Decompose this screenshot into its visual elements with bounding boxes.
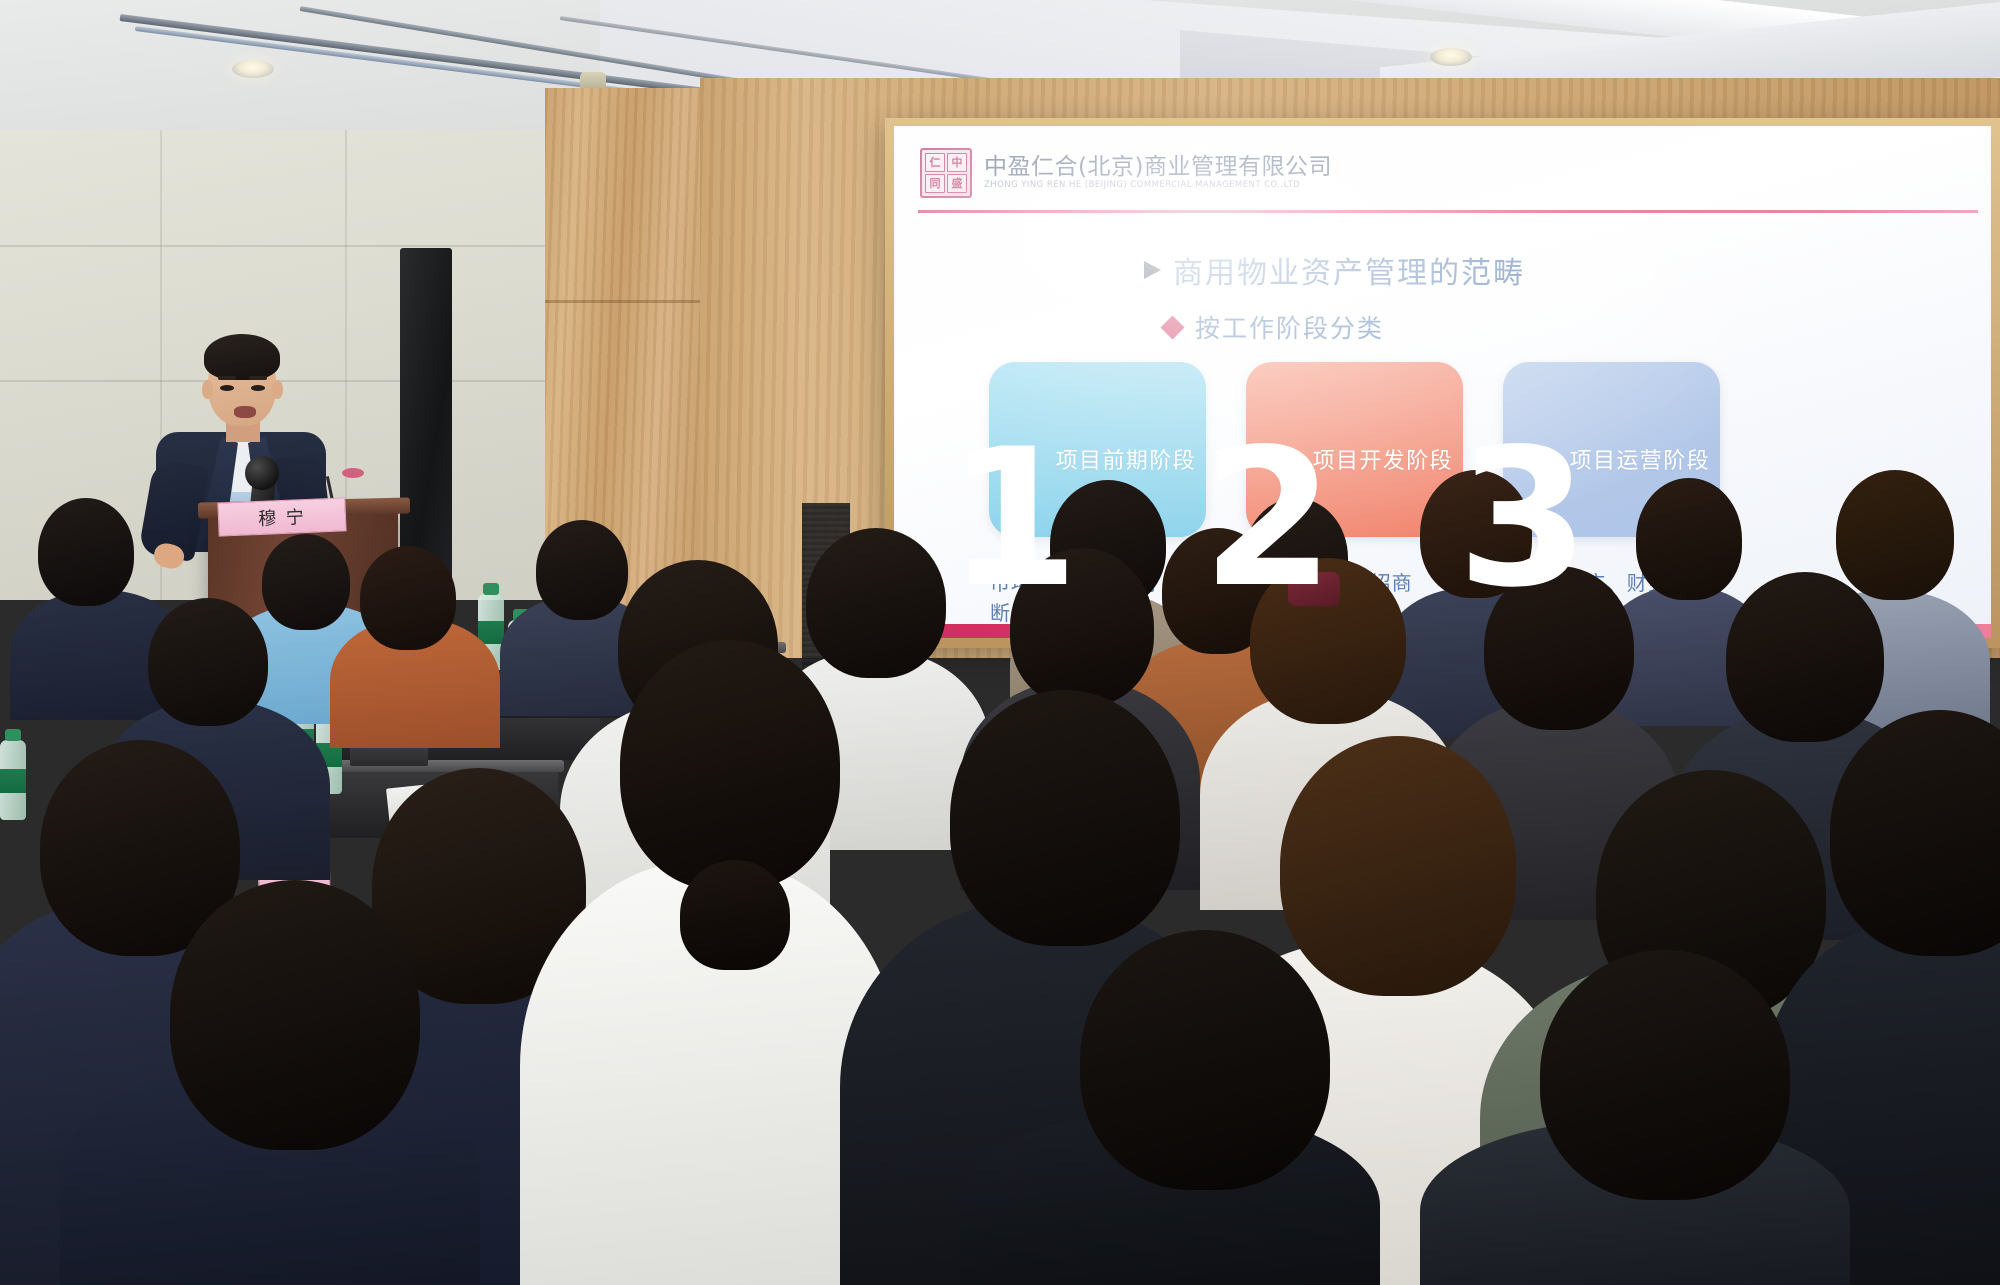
stage-label-2: 项目开发阶段 xyxy=(1313,443,1453,475)
audience-head xyxy=(1636,478,1742,600)
audience-head xyxy=(536,520,628,620)
header-divider xyxy=(918,210,1978,213)
audience-head xyxy=(1836,470,1954,600)
ponytail xyxy=(680,860,790,970)
seal-char: 中 xyxy=(947,153,967,172)
diamond-bullet-icon xyxy=(1160,315,1184,339)
slide-subtitle-row: 按工作阶段分类 xyxy=(1164,309,1384,345)
company-name-en: ZHONG YING REN HE (BEIJING) COMMERCIAL M… xyxy=(984,181,1332,190)
audience-head xyxy=(38,498,134,606)
audience-head xyxy=(1280,736,1516,996)
arrow-bullet-icon xyxy=(1144,261,1161,279)
stage-label-3: 项目运营阶段 xyxy=(1570,443,1710,475)
audience-head xyxy=(360,546,456,650)
seal-char: 仁 xyxy=(925,153,945,172)
slide-title: 商用物业资产管理的范畴 xyxy=(1173,248,1525,292)
lectern-mic-icon xyxy=(342,468,364,478)
audience-head xyxy=(620,640,840,890)
water-bottle xyxy=(0,740,26,820)
slide-header: 仁 中 同 盛 中盈仁合(北京)商业管理有限公司 ZHONG YING REN … xyxy=(920,148,1332,198)
audience-head xyxy=(170,880,420,1150)
audience-head xyxy=(1080,930,1330,1190)
conference-scene: 仁 中 同 盛 中盈仁合(北京)商业管理有限公司 ZHONG YING REN … xyxy=(0,0,2000,1285)
lectern-nameplate: 穆 宁 xyxy=(217,497,346,536)
audience-head xyxy=(1540,950,1790,1200)
audience-head xyxy=(806,528,946,678)
audience-head xyxy=(262,534,350,630)
seal-char: 盛 xyxy=(947,174,967,193)
audience-head xyxy=(950,690,1180,946)
company-name-cn: 中盈仁合(北京)商业管理有限公司 xyxy=(984,155,1332,180)
wood-wall-seam xyxy=(545,300,717,303)
seal-char: 同 xyxy=(925,174,945,193)
audience-head xyxy=(1726,572,1884,742)
downlight-icon xyxy=(1430,48,1472,66)
company-seal-logo-icon: 仁 中 同 盛 xyxy=(920,148,972,198)
audience-head xyxy=(148,598,268,726)
slide-subtitle: 按工作阶段分类 xyxy=(1195,309,1384,345)
slide-title-row: 商用物业资产管理的范畴 xyxy=(1144,248,1525,292)
stage-label-1: 项目前期阶段 xyxy=(1056,443,1196,475)
downlight-icon xyxy=(232,60,274,78)
